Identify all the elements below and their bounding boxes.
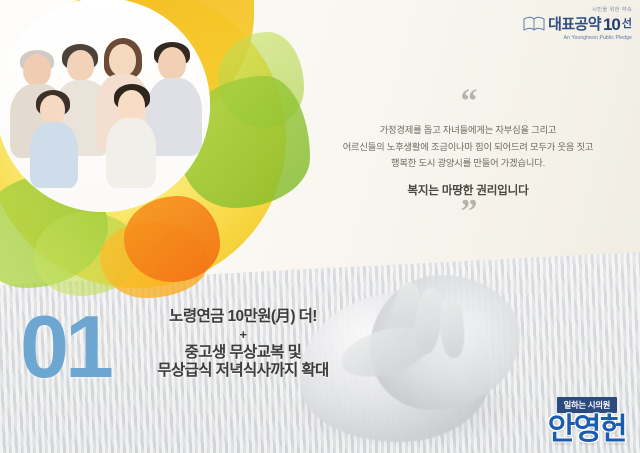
candidate-role: 일하는 시의원 xyxy=(557,397,617,413)
logo-english-text: An Youngheon Public Pledge xyxy=(504,35,632,41)
pledge-line-1: 노령연금 10만원(月) 더! xyxy=(118,308,368,326)
quote-line: 행복한 도시 광양시를 만들어 가겠습니다. xyxy=(318,155,618,171)
candidate-block: 일하는 시의원 안영헌 xyxy=(548,395,626,446)
logo-unit: 선 xyxy=(622,19,632,30)
pledge-line-2: 중고생 무상교복 및 xyxy=(118,344,368,362)
quote-block: “ 가정경제를 돕고 자녀들에게는 자부심을 그리고 어르신들의 노후생활에 조… xyxy=(318,92,618,223)
quote-close-mark: ” xyxy=(318,202,618,222)
logo-number: 10 xyxy=(603,16,620,33)
pledge-logo: 시민을 위한 약속 대표공약 10 선 An Youngheon Public … xyxy=(504,6,632,41)
family-portrait-photo xyxy=(0,0,210,212)
pledge-line-3: 무상급식 저녁식사까지 확대 xyxy=(118,362,368,380)
quote-line: 어르신들의 노후생활에 조금이나마 힘이 되어드려 모두가 웃음 짓고 xyxy=(318,139,618,155)
quote-line: 가정경제를 돕고 자녀들에게는 자부심을 그리고 xyxy=(318,122,618,138)
logo-lockup: 대표공약 10 선 xyxy=(504,14,632,34)
logo-tagline: 시민을 위한 약속 xyxy=(504,6,632,13)
pledge-headline: 노령연금 10만원(月) 더! + 중고생 무상교복 및 무상급식 저녁식사까지… xyxy=(118,308,368,380)
decorative-graphic xyxy=(0,0,300,304)
open-book-icon xyxy=(522,14,546,34)
candidate-name: 안영헌 xyxy=(548,414,626,446)
logo-korean-text: 대표공약 xyxy=(548,17,601,32)
pledge-poster: 시민을 위한 약속 대표공약 10 선 An Youngheon Public … xyxy=(0,0,640,453)
pledge-plus-sign: + xyxy=(118,327,368,343)
quote-open-mark: “ xyxy=(318,92,618,112)
pledge-number: 01 xyxy=(20,303,110,391)
